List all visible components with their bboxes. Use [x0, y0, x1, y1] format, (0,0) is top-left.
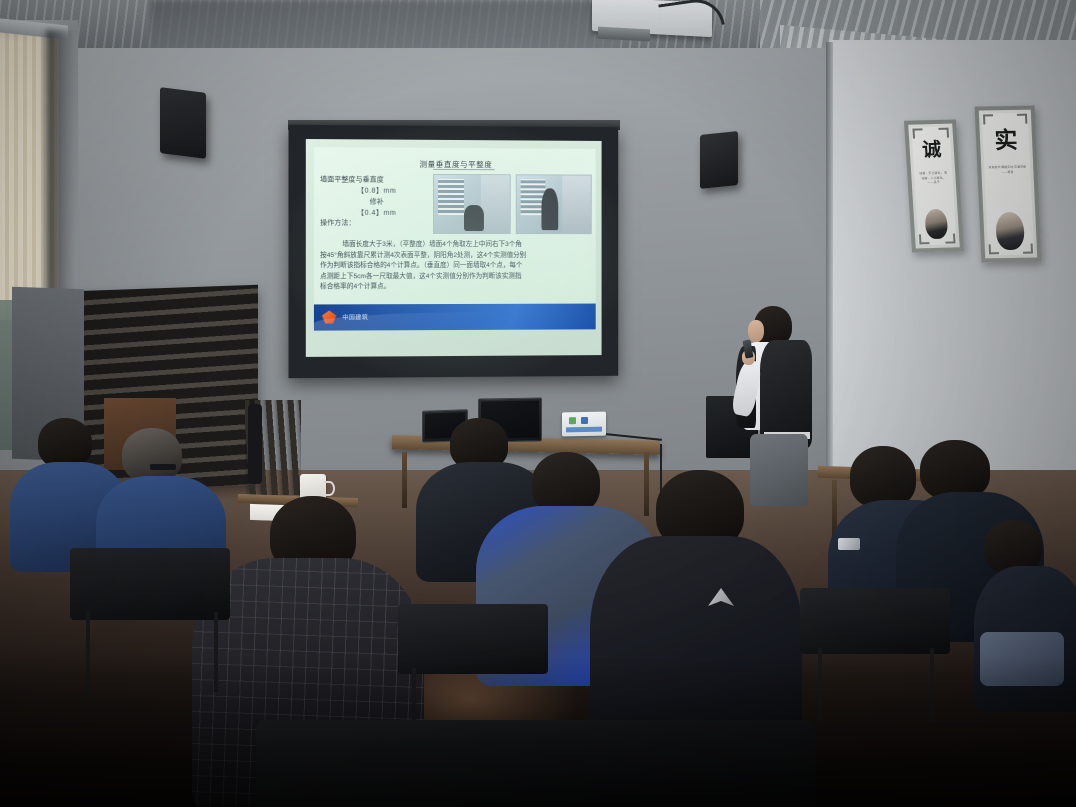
- scroll-character: 实: [982, 121, 1029, 156]
- scroll-subtitle: 求真务实 脚踏实地 实事求是 ——格言: [988, 165, 1026, 175]
- sleeve-badge: [838, 538, 860, 550]
- calligraphy-scroll-shi: 实 求真务实 脚踏实地 实事求是 ——格言: [975, 106, 1042, 263]
- slide-photo-1: [433, 174, 510, 234]
- slide-value-1: 【0.8】mm: [320, 186, 433, 197]
- slide-photo-row: [433, 174, 592, 234]
- classroom-chair[interactable]: [800, 588, 950, 654]
- slide-footer-bar: 中国建筑: [314, 304, 596, 331]
- projection-screen[interactable]: 测量垂直度与平整度 墙面平整度与垂直度 【0.8】mm 修补 【0.4】mm 操…: [289, 125, 619, 379]
- attendee-head: [38, 418, 92, 468]
- scroll-character: 诚: [912, 135, 952, 163]
- slide-method-label: 操作方法：: [320, 219, 433, 230]
- presenter-face: [748, 320, 764, 342]
- scroll-corner-icon: [919, 234, 930, 244]
- scroll-inner: 诚 诚者，天之道也； 思诚者，人之道也。 ——孟子: [911, 127, 956, 246]
- classroom-scene: 测量垂直度与平整度 墙面平整度与垂直度 【0.8】mm 修补 【0.4】mm 操…: [0, 0, 1076, 807]
- attendee-head: [122, 428, 182, 482]
- scroll-corner-icon: [945, 233, 956, 243]
- footer-company-text: 中国建筑: [342, 312, 368, 321]
- photo-worker: [542, 188, 558, 230]
- network-switch-box: [562, 412, 606, 437]
- scroll-inner: 实 求真务实 脚踏实地 实事求是 ——格言: [982, 113, 1034, 256]
- foreground-chair-row[interactable]: [256, 720, 816, 807]
- slide-body-line-1: 墙面长度大于3米，（平整度）墙面4个角取左上中间右下3个角: [320, 240, 591, 251]
- presentation-slide: 测量垂直度与平整度 墙面平整度与垂直度 【0.8】mm 修补 【0.4】mm 操…: [314, 147, 596, 331]
- slide-body-line-2: 按45°角斜放靠尺累计测4次表面平整，阴阳角2处测，这4个实测值分别: [320, 251, 591, 262]
- device-indicator-green: [569, 417, 576, 424]
- chair-leg: [86, 612, 90, 692]
- chair-leg: [818, 648, 822, 722]
- attendee-jeans: [980, 632, 1064, 686]
- scroll-portrait: [924, 209, 948, 240]
- photo-wall-area: [481, 175, 510, 233]
- slide-body-text: 墙面长度大于3米，（平整度）墙面4个角取左上中间右下3个角 按45°角斜放靠尺累…: [320, 240, 591, 293]
- scroll-subtitle: 诚者，天之道也； 思诚者，人之道也。 ——孟子: [918, 171, 949, 185]
- slide-value-2: 【0.4】mm: [320, 208, 433, 219]
- cup-handle-icon: [324, 481, 335, 496]
- slide-left-heading: 墙面平整度与垂直度: [320, 175, 433, 186]
- company-logo-icon: [322, 310, 336, 323]
- chair-leg: [930, 648, 934, 722]
- slide-title-underline: [433, 169, 495, 170]
- wall-speaker-right: [700, 131, 738, 189]
- device-strip: [566, 427, 602, 433]
- slide-body-line-3: 作为判断该指标合格的4个计算点。（垂直度）同一面墙取4个点，每个: [320, 261, 591, 272]
- scroll-corner-icon: [1023, 244, 1033, 254]
- photo-worker: [464, 205, 484, 231]
- slide-body-line-5: 标合格率的4个计算点。: [320, 282, 591, 293]
- slide-left-text-block: 墙面平整度与垂直度 【0.8】mm 修补 【0.4】mm 操作方法：: [320, 175, 433, 230]
- calligraphy-scroll-cheng: 诚 诚者，天之道也； 思诚者，人之道也。 ——孟子: [904, 119, 964, 252]
- screen-surface: 测量垂直度与平整度 墙面平整度与垂直度 【0.8】mm 修补 【0.4】mm 操…: [306, 139, 602, 357]
- classroom-chair[interactable]: [70, 548, 230, 620]
- slide-middle-label: 修补: [320, 197, 433, 208]
- device-indicator-blue: [581, 417, 588, 424]
- blinds-shadow: [46, 30, 76, 330]
- wall-speaker-left: [160, 87, 206, 159]
- attendee-right-3: [974, 520, 1076, 710]
- chair-backrest: [248, 404, 262, 484]
- classroom-chair[interactable]: [398, 604, 548, 674]
- attendee-head: [920, 440, 990, 500]
- photo-wall-area: [563, 175, 591, 233]
- scroll-portrait: [995, 212, 1025, 250]
- slide-photo-2: [515, 174, 592, 234]
- photo-window: [438, 179, 464, 215]
- chair-leg: [214, 612, 218, 692]
- glasses-icon: [150, 464, 176, 470]
- slide-body-line-4: 点测距上下5cm各一尺取最大值，这4个实测值分别作为判断该实测指: [320, 271, 591, 282]
- scroll-corner-icon: [989, 244, 999, 254]
